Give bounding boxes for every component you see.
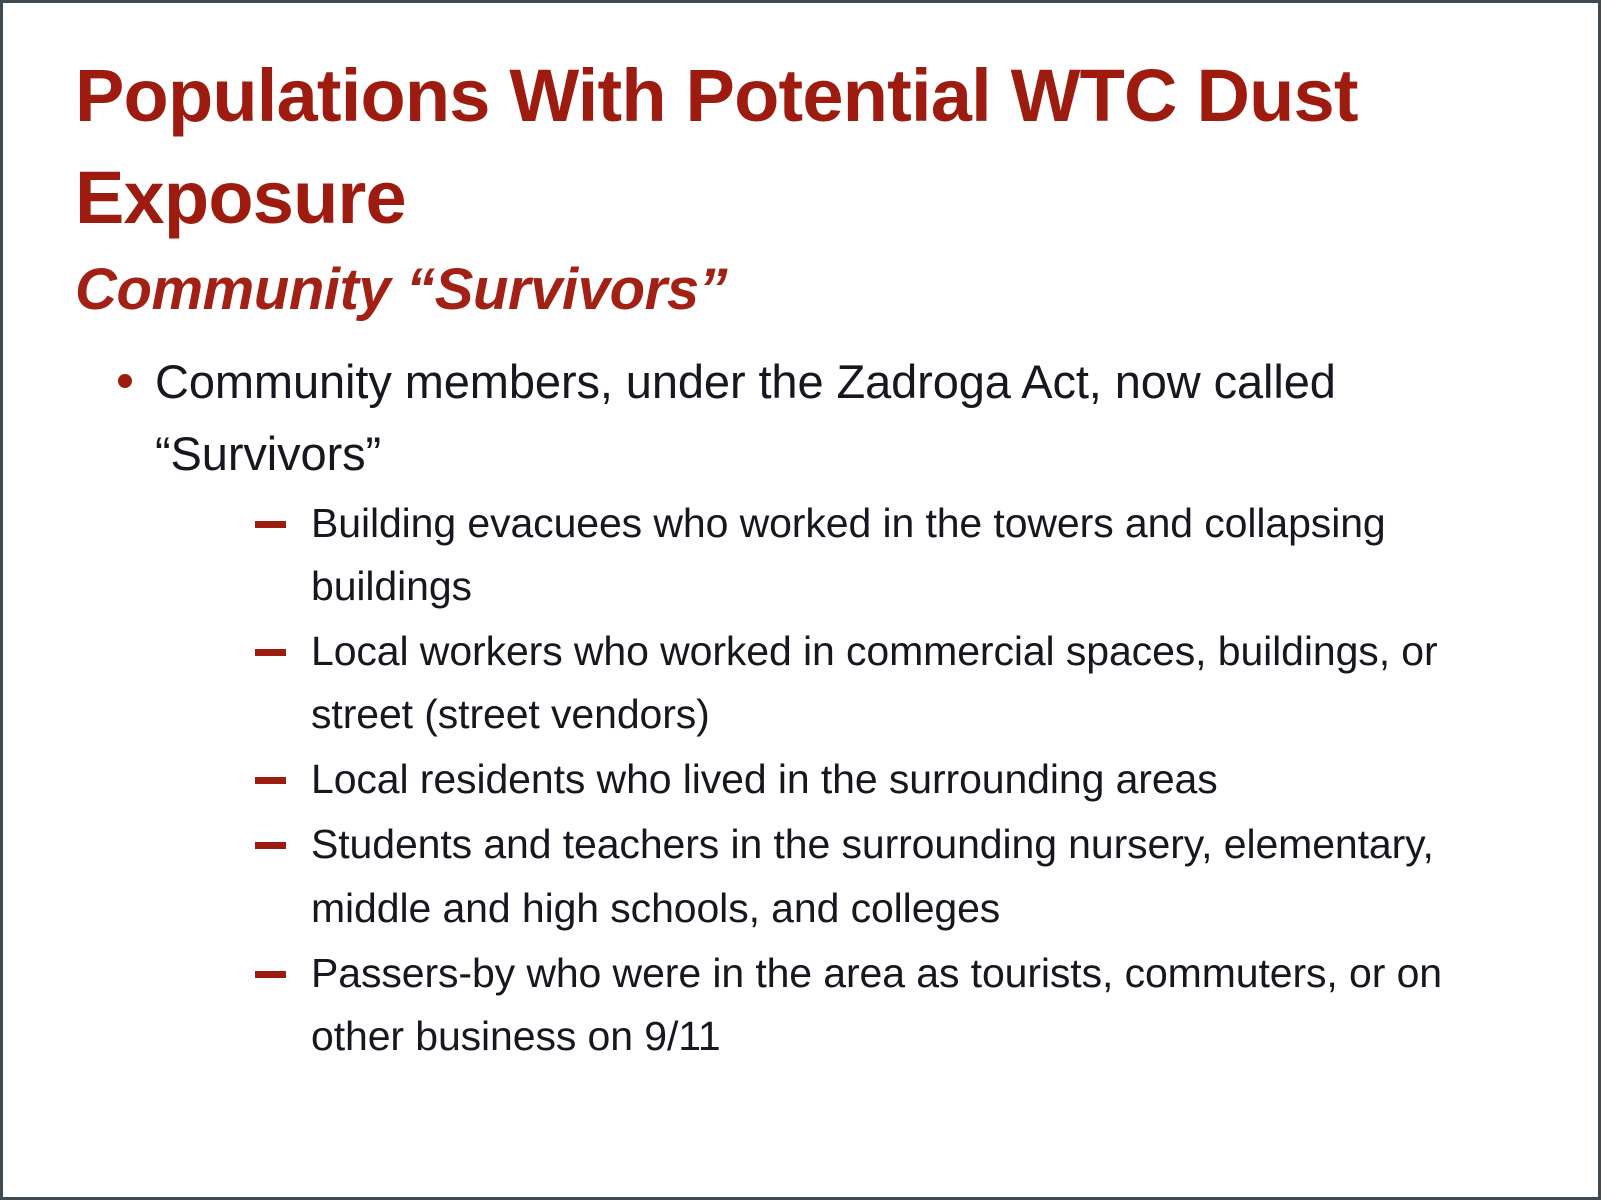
list-item: Local workers who worked in commercial s…: [155, 620, 1535, 746]
bullet-dot-icon: [118, 374, 132, 388]
bullet-list-level1: Community members, under the Zadroga Act…: [75, 346, 1535, 1068]
list-item: Passers-by who were in the area as touri…: [155, 942, 1535, 1068]
list-item-label: Students and teachers in the surrounding…: [311, 813, 1511, 939]
slide-title-block: Populations With Potential WTC Dust Expo…: [75, 45, 1495, 326]
en-dash-icon: [255, 649, 286, 656]
presentation-slide: Populations With Potential WTC Dust Expo…: [0, 0, 1601, 1200]
list-item: Building evacuees who worked in the towe…: [155, 492, 1535, 618]
slide-body-block: Community members, under the Zadroga Act…: [75, 346, 1535, 1074]
list-item-label: Community members, under the Zadroga Act…: [155, 346, 1505, 490]
list-item: Students and teachers in the surrounding…: [155, 813, 1535, 939]
list-item-label: Local residents who lived in the surroun…: [311, 748, 1511, 811]
slide-content-area: Populations With Potential WTC Dust Expo…: [3, 3, 1598, 1197]
list-item: Community members, under the Zadroga Act…: [75, 346, 1535, 1068]
list-item: Local residents who lived in the surroun…: [155, 748, 1535, 811]
bullet-list-level2: Building evacuees who worked in the towe…: [155, 492, 1535, 1068]
en-dash-icon: [255, 842, 286, 849]
slide-subtitle: Community “Survivors”: [75, 255, 1495, 326]
list-item-label: Local workers who worked in commercial s…: [311, 620, 1511, 746]
en-dash-icon: [255, 971, 286, 978]
en-dash-icon: [255, 521, 286, 528]
list-item-label: Passers-by who were in the area as touri…: [311, 942, 1511, 1068]
en-dash-icon: [255, 777, 286, 784]
page-title: Populations With Potential WTC Dust Expo…: [75, 45, 1495, 249]
list-item-label: Building evacuees who worked in the towe…: [311, 492, 1511, 618]
